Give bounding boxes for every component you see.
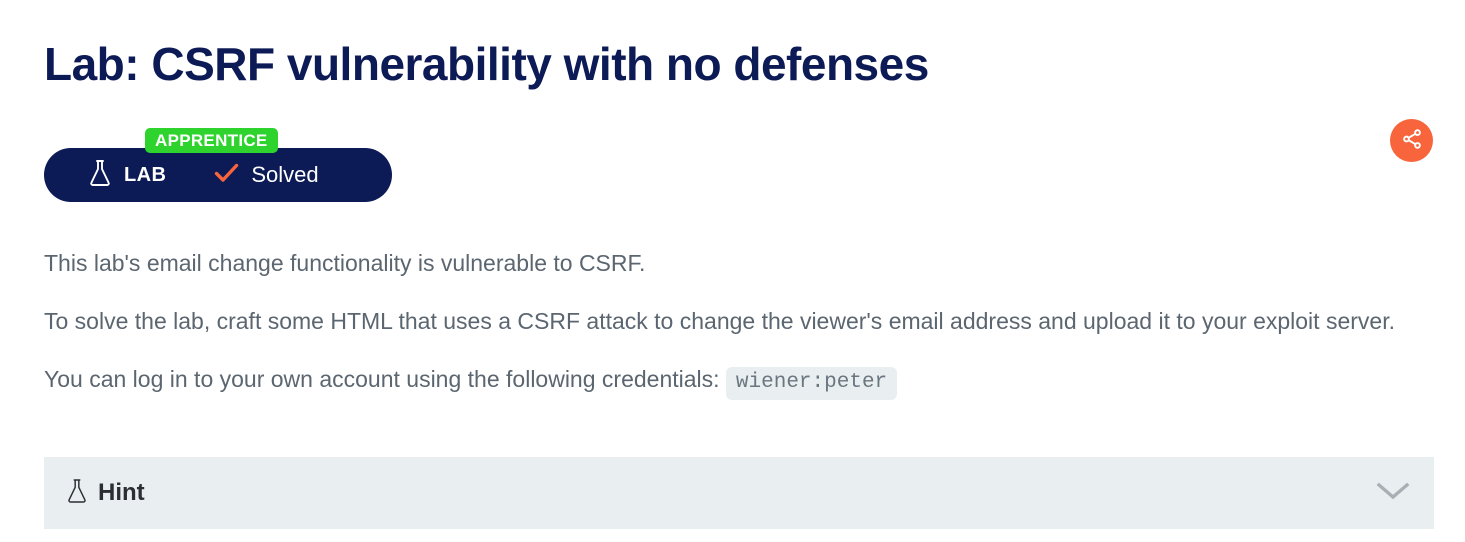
check-icon [214,162,239,189]
flask-icon [88,159,112,192]
page-title: Lab: CSRF vulnerability with no defenses [44,36,929,92]
lab-pill-left-group: LAB [88,159,166,192]
chevron-down-icon[interactable] [1376,480,1410,507]
hint-accordion-header[interactable]: Hint [44,457,1434,529]
lab-credentials-paragraph: You can log in to your own account using… [44,360,1406,402]
lab-level-badge: APPRENTICE [145,128,278,153]
lab-status-pill[interactable]: LAB Solved [44,148,392,202]
lab-status-widget: APPRENTICE LAB Solved [44,128,394,202]
lab-description: This lab's email change functionality is… [44,244,1406,402]
credentials-code[interactable]: wiener:peter [726,367,897,400]
lab-intro-paragraph: This lab's email change functionality is… [44,244,1406,282]
hint-label: Hint [98,479,145,507]
lab-goal-paragraph: To solve the lab, craft some HTML that u… [44,302,1404,340]
lab-status-label: Solved [251,162,318,188]
hint-label-group: Hint [66,478,145,509]
share-icon [1401,128,1423,153]
lab-pill-label: LAB [124,164,166,187]
share-button[interactable] [1390,119,1433,162]
lab-pill-right-group: Solved [214,162,318,189]
flask-icon [66,478,88,509]
credentials-prefix-text: You can log in to your own account using… [44,366,720,392]
